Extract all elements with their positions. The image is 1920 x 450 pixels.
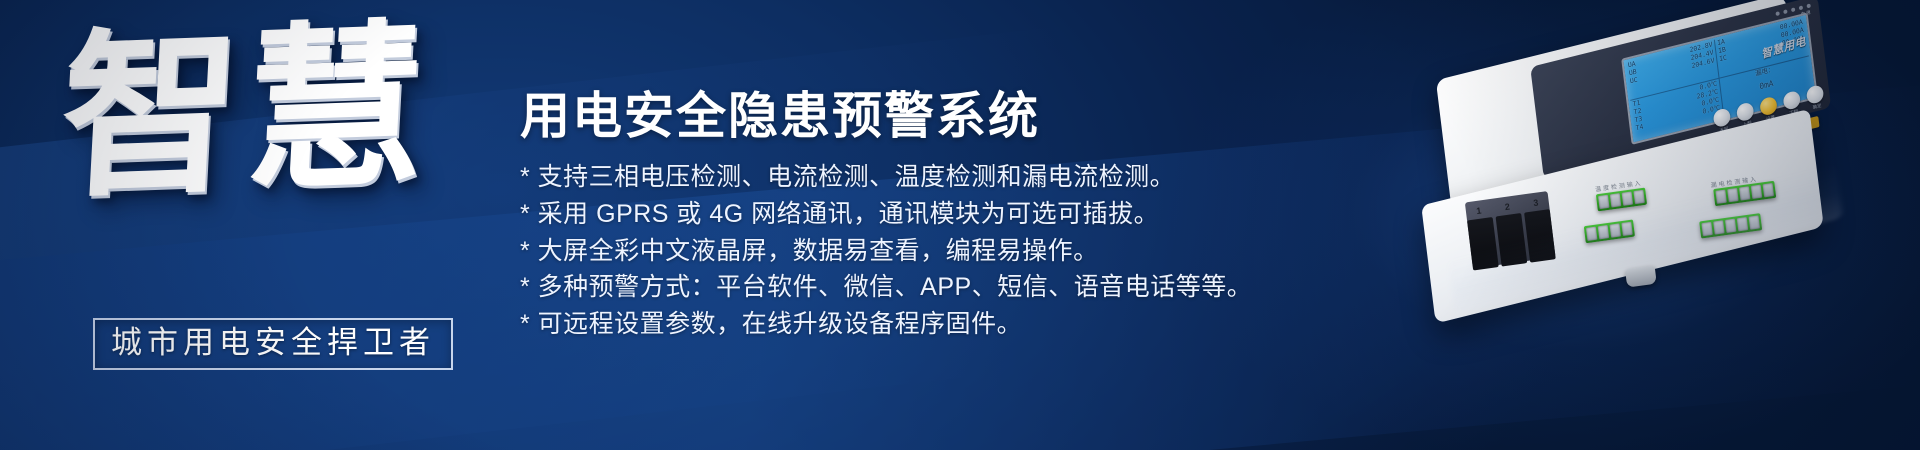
lcd-t4-label: T4 <box>1635 123 1644 133</box>
connector-number: 2 <box>1504 201 1510 212</box>
lcd-ic-label: IC <box>1719 54 1728 64</box>
calligraphy-block: 智慧 <box>62 22 462 292</box>
terminal-screw <box>1622 191 1633 205</box>
feature-list: * 支持三相电压检测、电流检测、温度检测和漏电流检测。 * 采用 GPRS 或 … <box>520 159 1220 343</box>
promo-banner: 智慧 城市用电安全捍卫者 用电安全隐患预警系统 * 支持三相电压检测、电流检测、… <box>0 0 1920 450</box>
list-item: * 支持三相电压检测、电流检测、温度检测和漏电流检测。 <box>520 159 1220 196</box>
lcd-uc-label: UC <box>1630 76 1639 86</box>
device-button-confirm[interactable]: 确定 <box>1806 84 1825 105</box>
status-led <box>1775 11 1779 16</box>
connector-number: 3 <box>1533 197 1539 208</box>
device-button-back[interactable]: 返回 <box>1713 107 1732 128</box>
status-led <box>1807 3 1811 8</box>
device-photo: 电源 UA202.8V UB204.4V UC204.6V IA00.00A I… <box>1372 10 1892 390</box>
status-led <box>1783 9 1787 14</box>
device-button-down[interactable]: 下翻 <box>1782 90 1801 111</box>
list-item: * 采用 GPRS 或 4G 网络通讯，通讯模块为可选可插拔。 <box>520 196 1220 233</box>
device-button-confirm-label: 确定 <box>1806 101 1828 112</box>
copy-column: 用电安全隐患预警系统 * 支持三相电压检测、电流检测、温度检测和漏电流检测。 *… <box>520 88 1220 343</box>
status-led <box>1799 5 1803 10</box>
slogan-text: 城市用电安全捍卫者 <box>111 326 435 360</box>
calligraphy-text: 智慧 <box>57 15 467 207</box>
terminal-screw <box>1610 193 1621 207</box>
terminal-screw <box>1633 190 1644 204</box>
connector-number: 1 <box>1476 205 1482 216</box>
device-button-settings[interactable]: 设置 <box>1759 96 1778 117</box>
slogan-box: 城市用电安全捍卫者 <box>93 318 453 370</box>
terminal-screw <box>1598 195 1609 209</box>
list-item: * 可远程设置参数，在线升级设备程序固件。 <box>520 306 1220 343</box>
list-item: * 大屏全彩中文液晶屏，数据易查看，编程易操作。 <box>520 233 1220 270</box>
page-title: 用电安全隐患预警系统 <box>520 88 1220 145</box>
status-led <box>1791 7 1795 12</box>
device-button-up[interactable]: 上翻 <box>1736 101 1755 122</box>
list-item: * 多种预警方式：平台软件、微信、APP、短信、语音电话等等。 <box>520 269 1220 306</box>
device-body: 电源 UA202.8V UB204.4V UC204.6V IA00.00A I… <box>1396 0 1850 384</box>
